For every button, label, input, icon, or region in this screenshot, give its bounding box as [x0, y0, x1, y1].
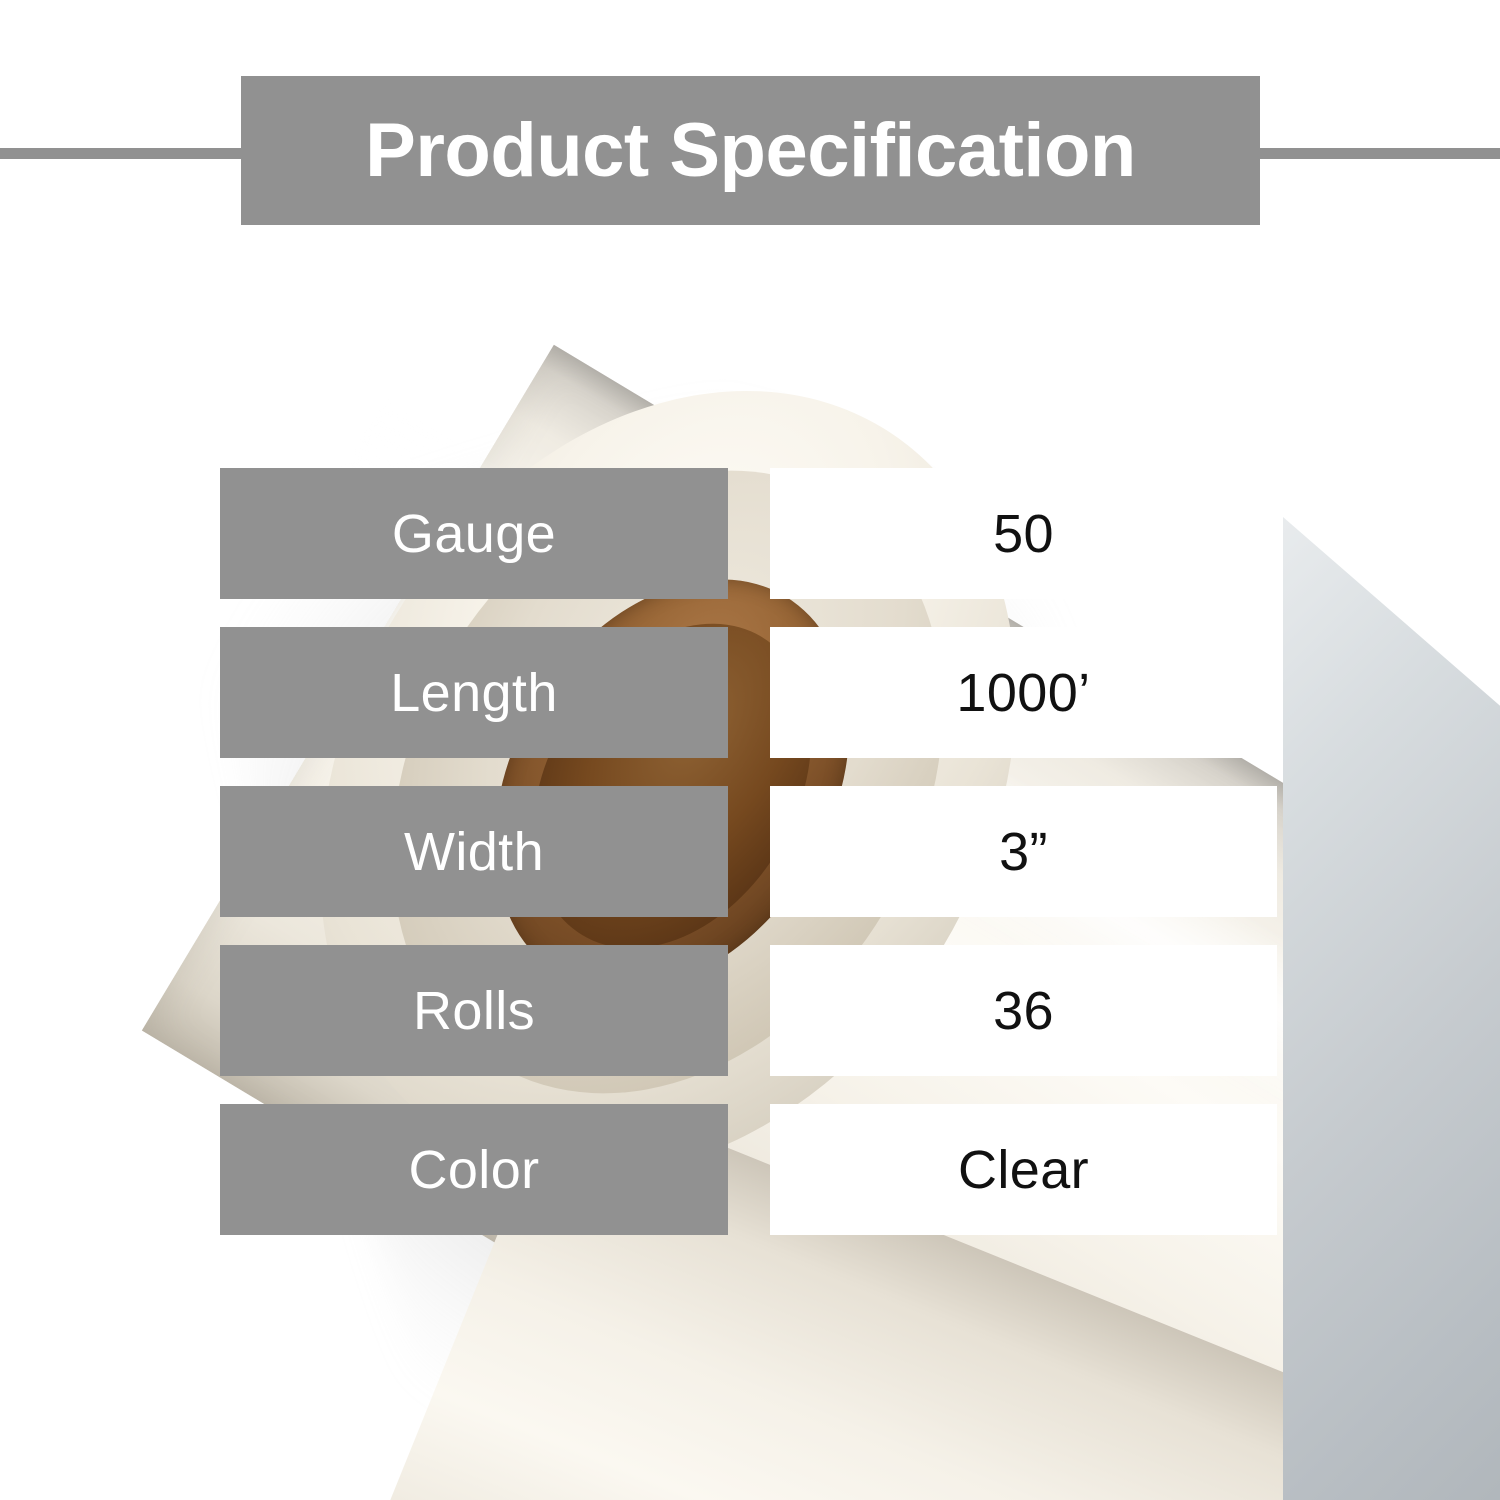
spec-label-text: Gauge	[392, 507, 556, 561]
spec-value-text: 50	[993, 507, 1054, 561]
table-row: Color Clear	[0, 1104, 1500, 1235]
spec-label-rolls: Rolls	[220, 945, 728, 1076]
spec-label-text: Length	[390, 666, 558, 720]
table-row: Length 1000’	[0, 627, 1500, 758]
spec-value-text: Clear	[958, 1143, 1089, 1197]
table-row: Rolls 36	[0, 945, 1500, 1076]
spec-label-color: Color	[220, 1104, 728, 1235]
spec-label-width: Width	[220, 786, 728, 917]
spec-label-gauge: Gauge	[220, 468, 728, 599]
spec-label-length: Length	[220, 627, 728, 758]
spec-value-length: 1000’	[770, 627, 1277, 758]
spec-value-text: 3”	[999, 825, 1048, 879]
infographic-canvas: Product Specification Gauge 50 Length 10…	[0, 0, 1500, 1500]
spec-value-rolls: 36	[770, 945, 1277, 1076]
page-title: Product Specification	[365, 113, 1136, 189]
spec-value-width: 3”	[770, 786, 1277, 917]
spec-label-text: Color	[408, 1143, 539, 1197]
spec-value-text: 36	[993, 984, 1054, 1038]
header-banner: Product Specification	[241, 76, 1260, 225]
table-row: Gauge 50	[0, 468, 1500, 599]
table-row: Width 3”	[0, 786, 1500, 917]
spec-label-text: Width	[404, 825, 544, 879]
spec-value-gauge: 50	[770, 468, 1277, 599]
specification-table: Gauge 50 Length 1000’ Width 3” Roll	[0, 468, 1500, 1263]
spec-label-text: Rolls	[413, 984, 535, 1038]
spec-value-text: 1000’	[956, 666, 1090, 720]
spec-value-color: Clear	[770, 1104, 1277, 1235]
